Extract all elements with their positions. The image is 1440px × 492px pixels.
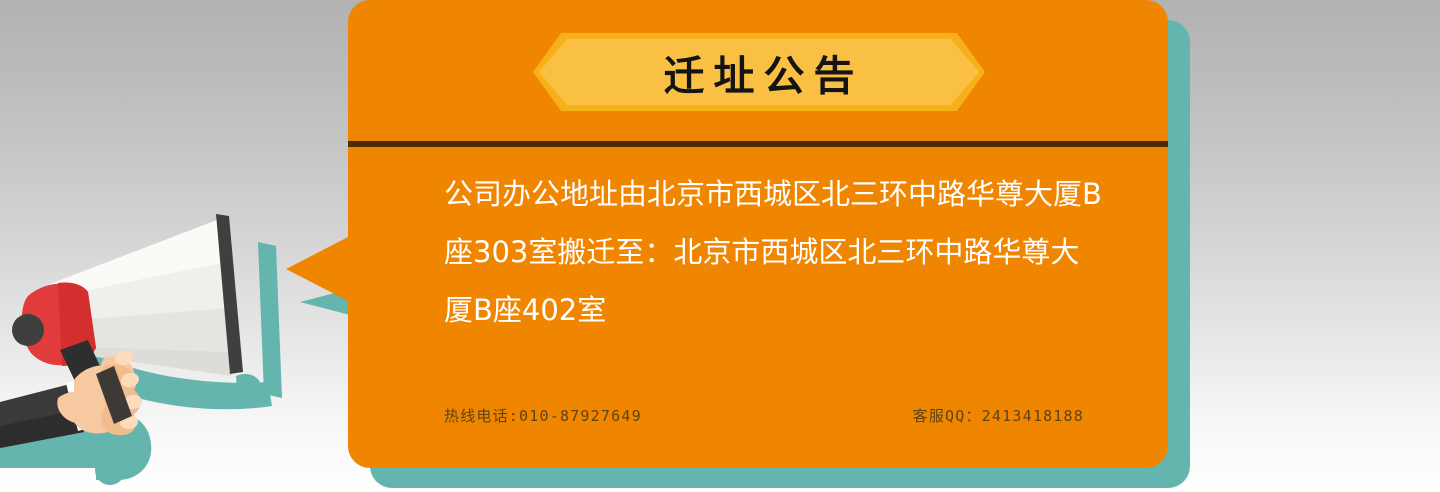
announcement-card: 迁址公告 公司办公地址由北京市西城区北三环中路华尊大厦B座303室搬迁至：北京市… <box>348 0 1168 468</box>
announcement-banner-stage: 迁址公告 公司办公地址由北京市西城区北三环中路华尊大厦B座303室搬迁至：北京市… <box>0 0 1440 492</box>
megaphone-illustration <box>0 180 360 492</box>
megaphone-icon <box>0 180 360 492</box>
announcement-body: 公司办公地址由北京市西城区北三环中路华尊大厦B座303室搬迁至：北京市西城区北三… <box>444 165 1104 339</box>
bubble-tail <box>286 235 352 303</box>
contact-footer: 热线电话:010-87927649 客服QQ：2413418188 <box>444 405 1084 426</box>
title-banner: 迁址公告 <box>533 33 985 111</box>
page-title: 迁址公告 <box>533 33 985 111</box>
hotline-text: 热线电话:010-87927649 <box>444 405 642 426</box>
divider <box>348 141 1168 147</box>
qq-text: 客服QQ：2413418188 <box>913 405 1084 426</box>
megaphone-knob <box>12 314 44 346</box>
